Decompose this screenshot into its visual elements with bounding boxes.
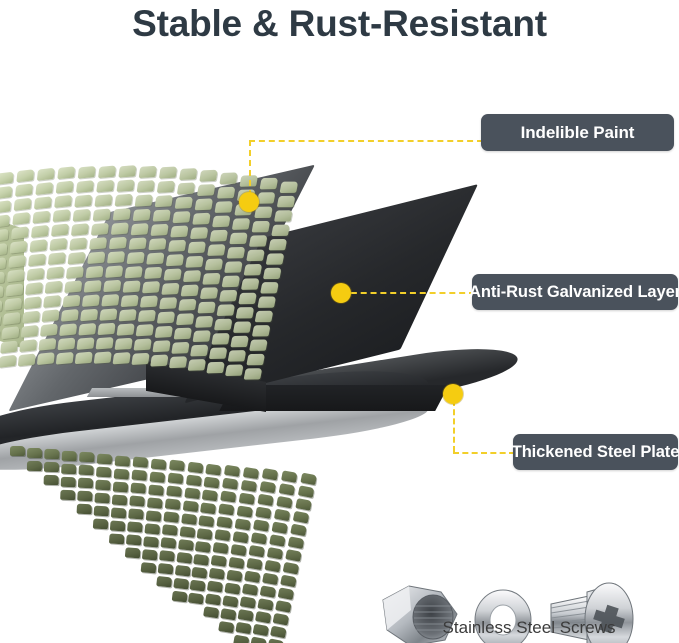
turf-tuft-underside <box>280 574 297 587</box>
turf-tuft-underside <box>44 449 59 459</box>
turf-tuft <box>137 180 155 192</box>
turf-tuft-underside <box>96 467 112 478</box>
turf-tuft-underside <box>285 549 302 562</box>
turf-tuft <box>32 210 50 223</box>
turf-tuft-underside <box>188 462 204 474</box>
turf-tuft <box>153 209 171 221</box>
turf-tuft-underside <box>237 505 253 517</box>
turf-tuft-underside <box>111 507 127 518</box>
turf-tuft-underside <box>132 470 148 481</box>
turf-tuft <box>227 247 246 259</box>
turf-tuft <box>101 294 119 307</box>
turf-tuft <box>224 261 243 273</box>
turf-tuft-underside <box>262 468 278 480</box>
turf-tuft-underside <box>190 579 206 591</box>
turf-tuft <box>159 297 177 309</box>
turf-tuft-underside <box>61 464 76 475</box>
turf-tuft-underside <box>241 480 257 492</box>
turf-tuft-underside <box>175 565 191 577</box>
turf-tuft <box>115 337 133 349</box>
turf-tuft-underside <box>203 606 219 618</box>
turf-tuft <box>10 241 28 254</box>
callout-dot-indelible-paint <box>239 192 259 212</box>
leader-line-galvanized-layer <box>341 292 475 294</box>
turf-tuft <box>12 212 30 225</box>
turf-tuft-underside <box>60 490 75 501</box>
turf-tuft <box>35 182 53 195</box>
turf-tuft-column-underside <box>10 446 25 459</box>
turf-tuft <box>8 255 26 268</box>
turf-tuft <box>211 333 230 345</box>
turf-tuft-underside <box>253 520 269 532</box>
turf-tuft <box>174 328 193 340</box>
turf-tuft-underside <box>109 533 125 544</box>
turf-tuft <box>280 182 299 193</box>
turf-tuft <box>0 186 12 199</box>
turf-tuft-column-underside <box>44 449 60 488</box>
turf-tuft-underside <box>162 525 178 537</box>
turf-tuft-underside <box>224 582 240 594</box>
turf-tuft <box>257 192 276 204</box>
turf-tuft-underside <box>283 561 300 574</box>
turf-tuft-underside <box>243 467 259 479</box>
turf-tuft-underside <box>298 485 315 498</box>
turf-tuft-underside <box>262 573 279 586</box>
turf-tuft-underside <box>165 499 181 511</box>
turf-tuft <box>57 337 75 350</box>
turf-tuft <box>31 225 49 238</box>
turf-tuft <box>125 266 143 278</box>
turf-tuft <box>185 256 204 268</box>
turf-tuft <box>42 309 60 322</box>
turf-tuft <box>18 353 36 366</box>
turf-tuft <box>107 251 125 264</box>
turf-tuft-underside <box>77 504 92 515</box>
turf-tuft <box>140 295 158 307</box>
turf-tuft-underside <box>288 536 305 549</box>
turf-tuft <box>19 339 37 352</box>
turf-tuft-underside <box>300 472 317 485</box>
turf-tuft-underside <box>249 545 265 557</box>
turf-tuft <box>176 313 195 325</box>
turf-tuft <box>82 294 100 307</box>
turf-tuft <box>21 325 39 338</box>
turf-tuft <box>0 172 14 185</box>
turf-tuft-underside <box>293 510 310 523</box>
turf-tuft <box>40 323 58 336</box>
turf-tuft-underside <box>191 566 207 578</box>
turf-tuft <box>164 268 182 280</box>
turf-tuft <box>111 222 129 235</box>
turf-tuft <box>56 351 74 364</box>
callout-label-steel-plate[interactable]: Thickened Steel Plate <box>513 434 678 470</box>
turf-tuft-underside <box>267 547 284 560</box>
leader-line-indelible-paint-horizontal <box>249 140 483 142</box>
callout-label-indelible-paint[interactable]: Indelible Paint <box>481 114 674 151</box>
turf-tuft-underside <box>142 549 158 560</box>
turf-tuft <box>190 227 209 239</box>
turf-tuft <box>0 286 4 299</box>
turf-tuft-underside <box>222 478 238 490</box>
turf-tuft <box>254 207 273 219</box>
turf-tuft-underside <box>178 539 194 551</box>
turf-tuft <box>222 275 241 287</box>
turf-tuft-underside <box>77 491 92 502</box>
turf-tuft-underside <box>264 560 281 573</box>
turf-tuft-underside <box>93 518 109 529</box>
turf-tuft-underside <box>231 544 247 556</box>
turf-tuft-underside <box>143 536 159 547</box>
turf-tuft <box>197 301 216 313</box>
turf-tuft-underside <box>238 609 254 621</box>
turf-tuft <box>46 266 64 279</box>
turf-tuft <box>161 283 179 295</box>
turf-tuft-underside <box>272 521 289 534</box>
turf-tuft <box>78 165 96 178</box>
turf-tuft-column-underside <box>60 451 77 504</box>
turf-tuft <box>212 215 231 227</box>
callout-dot-galvanized-layer <box>331 283 351 303</box>
turf-tuft-underside <box>274 509 291 522</box>
turf-tuft <box>171 342 190 354</box>
turf-tuft <box>195 316 214 328</box>
turf-tuft-underside <box>78 478 93 489</box>
turf-tuft <box>0 243 7 256</box>
turf-tuft-underside <box>169 460 185 472</box>
turf-tuft <box>233 322 252 334</box>
turf-tuft-underside <box>144 523 160 534</box>
turf-tuft-column-underside <box>27 448 42 474</box>
turf-tuft <box>202 272 221 284</box>
turf-tuft-underside <box>218 504 234 516</box>
turf-tuft <box>119 309 137 321</box>
turf-tuft <box>170 225 188 237</box>
turf-tuft <box>56 181 74 194</box>
turf-tuft-underside <box>163 512 179 524</box>
turf-tuft-underside <box>205 594 221 606</box>
turf-tuft-underside <box>149 471 165 482</box>
turf-tuft-underside <box>253 624 270 637</box>
turf-tuft <box>238 293 257 305</box>
turf-tuft <box>133 338 151 350</box>
turf-tuft-underside <box>205 463 221 475</box>
leader-line-indelible-paint-vertical <box>249 140 251 196</box>
turf-tuft <box>0 229 9 242</box>
turf-tuft <box>146 252 164 264</box>
turf-tuft-underside <box>290 523 307 536</box>
turf-tuft <box>43 295 61 308</box>
turf-tuft <box>7 269 25 282</box>
turf-tuft-underside <box>173 578 189 590</box>
turf-tuft <box>199 170 218 182</box>
turf-tuft <box>229 232 248 244</box>
turf-tuft-underside <box>148 484 164 495</box>
turf-tuft-underside <box>128 509 144 520</box>
turf-tuft <box>1 326 19 339</box>
turf-tuft <box>78 322 96 335</box>
turf-tuft <box>105 265 123 278</box>
turf-tuft <box>86 265 104 278</box>
turf-tuft <box>75 351 93 364</box>
turf-tuft-underside <box>209 568 225 580</box>
turf-tuft-underside <box>79 452 94 463</box>
turf-tuft <box>109 237 127 250</box>
turf-tuft-underside <box>278 587 295 600</box>
turf-tuft <box>53 209 71 222</box>
turf-tuft <box>210 229 229 241</box>
turf-tuft <box>84 279 102 292</box>
turf-tuft <box>172 211 190 223</box>
turf-tuft-underside <box>186 475 202 487</box>
turf-tuft-underside <box>233 531 249 543</box>
turf-tuft-underside <box>244 571 260 583</box>
turf-tuft <box>236 307 255 319</box>
turf-tuft-underside <box>95 480 111 491</box>
turf-tuft <box>45 281 63 294</box>
turf-tuft <box>244 264 263 276</box>
turf-tuft <box>139 165 157 177</box>
turf-tuft <box>135 194 153 206</box>
turf-tuft <box>190 344 209 356</box>
turf-tuft <box>219 290 238 302</box>
turf-tuft <box>113 208 131 221</box>
turf-tuft-column-underside <box>76 452 94 518</box>
turf-tuft <box>121 294 139 306</box>
turf-tuft <box>127 251 145 263</box>
turf-tuft <box>38 338 56 351</box>
hardware-caption: Stainless Steel Screws <box>379 618 679 638</box>
turf-tuft-underside <box>10 446 25 456</box>
turf-tuft <box>214 318 233 330</box>
turf-tuft <box>0 271 5 284</box>
turf-tuft <box>14 198 32 211</box>
turf-tuft <box>159 166 177 178</box>
turf-tuft <box>34 196 52 209</box>
turf-tuft <box>232 218 251 230</box>
turf-tuft <box>89 237 107 250</box>
turf-tuft-underside <box>159 550 175 562</box>
turf-tuft <box>0 300 2 313</box>
turf-tuft <box>48 252 66 265</box>
turf-tuft <box>116 179 134 192</box>
turf-tuft-column-underside <box>93 454 113 533</box>
turf-tuft <box>138 310 156 322</box>
turf-tuft-underside <box>276 496 293 509</box>
turf-tuft-underside <box>250 636 267 643</box>
turf-tuft-underside <box>222 595 238 607</box>
turf-tuft <box>0 341 18 354</box>
turf-tuft <box>142 281 160 293</box>
turf-tuft <box>246 354 265 365</box>
turf-tuft <box>277 196 296 207</box>
turf-tuft <box>188 241 207 253</box>
turf-tuft <box>241 278 260 290</box>
turf-tuft <box>205 258 224 270</box>
turf-tuft <box>175 197 193 209</box>
turf-tuft <box>96 337 114 350</box>
turf-tuft <box>244 368 263 379</box>
turf-tuft-underside <box>183 500 199 512</box>
turf-tuft-underside <box>158 563 174 575</box>
turf-tuft <box>91 222 109 235</box>
turf-tuft <box>271 225 290 236</box>
turf-tuft <box>157 311 175 323</box>
turf-tuft <box>131 223 149 235</box>
turf-tuft-grid-bottom <box>10 444 340 624</box>
turf-tuft-underside <box>269 534 286 547</box>
turf-tuft <box>225 365 244 377</box>
turf-tuft <box>230 336 249 348</box>
turf-tuft <box>97 323 115 336</box>
turf-tuft <box>179 168 197 180</box>
turf-tuft <box>136 324 154 336</box>
turf-tuft <box>25 282 43 295</box>
turf-tuft-underside <box>260 585 277 598</box>
turf-tuft-underside <box>220 608 236 620</box>
turf-tuft <box>193 330 212 342</box>
turf-tuft-underside <box>251 532 267 544</box>
turf-tuft <box>54 195 72 208</box>
turf-tuft <box>22 310 40 323</box>
turf-tuft <box>94 351 112 364</box>
turf-tuft-underside <box>44 475 59 485</box>
turf-tuft <box>168 240 186 252</box>
turf-tuft <box>0 257 6 270</box>
turf-tuft <box>115 194 133 207</box>
turf-tuft <box>133 208 151 220</box>
turf-tuft-underside <box>115 455 131 466</box>
turf-tuft <box>206 361 225 373</box>
turf-tuft-underside <box>112 494 128 505</box>
turf-tuft <box>207 244 226 256</box>
turf-tuft <box>157 181 175 193</box>
turf-tuft-underside <box>172 591 188 603</box>
turf-tuft-underside <box>161 537 177 549</box>
turf-tuft <box>49 238 67 251</box>
turf-tuft <box>228 350 247 362</box>
turf-tuft-underside <box>125 547 141 558</box>
turf-tuft-underside <box>235 518 251 530</box>
turf-tuft-underside <box>233 635 249 643</box>
turf-tuft-underside <box>257 598 274 611</box>
turf-tuft <box>183 270 202 282</box>
turf-tuft <box>51 223 69 236</box>
turf-tuft-grid-top <box>0 127 325 412</box>
turf-tuft <box>59 323 77 336</box>
turf-tuft <box>28 253 46 266</box>
turf-tuft-underside <box>27 461 42 471</box>
turf-tuft-underside <box>126 534 142 545</box>
turf-tuft-underside <box>180 526 196 538</box>
turf-tuft <box>103 280 121 293</box>
turf-tuft <box>64 280 82 293</box>
turf-tuft-underside <box>257 494 273 506</box>
turf-tuft <box>255 311 274 322</box>
turf-tuft-underside <box>141 562 157 573</box>
turf-tuft-underside <box>184 487 200 499</box>
turf-tuft <box>268 239 287 250</box>
turf-tuft <box>4 298 22 311</box>
turf-tuft-underside <box>224 465 240 477</box>
turf-tuft <box>76 180 94 193</box>
turf-tuft-underside <box>281 470 298 483</box>
turf-tuft <box>66 266 84 279</box>
turf-tuft <box>73 208 91 221</box>
turf-tuft <box>123 280 141 292</box>
turf-tuft-underside <box>279 483 296 496</box>
turf-tuft <box>96 179 114 192</box>
turf-tuft-underside <box>188 592 204 604</box>
turf-tuft-underside <box>110 520 126 531</box>
turf-tuft <box>129 237 147 249</box>
turf-tuft <box>252 325 271 336</box>
turf-tuft-underside <box>268 638 285 643</box>
turf-tuft-underside <box>168 473 184 485</box>
turf-tuft <box>0 214 10 227</box>
turf-tuft-underside <box>204 476 220 488</box>
turf-tuft-underside <box>166 486 182 498</box>
turf-tuft <box>94 194 112 207</box>
turf-tuft-underside <box>255 611 272 624</box>
turf-tuft <box>249 235 268 247</box>
turf-tuft <box>263 268 282 279</box>
turf-tuft <box>260 282 279 293</box>
turf-tuft-underside <box>260 481 276 493</box>
turf-tuft-underside <box>235 622 251 634</box>
turf-tuft <box>209 347 228 359</box>
turf-tuft <box>177 182 195 194</box>
callout-label-galvanized-layer[interactable]: Anti-Rust Galvanized Layer <box>472 274 678 310</box>
leader-line-steel-plate-vertical <box>453 400 455 452</box>
turf-tuft-underside <box>270 625 287 638</box>
product-infographic: Stable & Rust-Resistant <box>0 0 679 643</box>
turf-tuft-underside <box>44 462 59 472</box>
turf-tuft <box>148 238 166 250</box>
turf-tuft <box>214 201 233 213</box>
turf-tuft-underside <box>273 612 290 625</box>
turf-tuft-underside <box>94 493 110 504</box>
turf-tuft <box>150 224 168 236</box>
turf-tuft-underside <box>246 558 262 570</box>
turf-tuft <box>69 237 87 250</box>
turf-tuft <box>217 304 236 316</box>
turf-tuft <box>219 172 238 184</box>
turf-tuft-underside <box>195 541 211 553</box>
turf-tuft-underside <box>147 497 163 508</box>
turf-tuft-underside <box>113 481 129 492</box>
turf-tuft <box>113 352 131 364</box>
turf-tuft-underside <box>215 529 231 541</box>
turf-tuft <box>274 210 293 221</box>
turf-tuft <box>178 299 197 311</box>
turf-tuft-underside <box>198 515 214 527</box>
turf-tuft-underside <box>211 555 227 567</box>
turf-tuft-underside <box>239 492 255 504</box>
turf-tuft <box>217 186 236 198</box>
turf-tuft-underside <box>97 454 113 465</box>
turf-tuft <box>118 165 136 178</box>
turf-tuft-underside <box>240 597 256 609</box>
turf-tuft <box>71 223 89 236</box>
turf-tuft-underside <box>27 448 42 458</box>
turf-tuft-underside <box>295 498 312 511</box>
turf-tuft <box>37 168 55 181</box>
turf-tuft <box>197 184 216 196</box>
turf-tuft <box>98 165 116 178</box>
turf-tuft-underside <box>146 510 162 521</box>
turf-tuft-underside <box>275 600 292 613</box>
turf-tuft <box>188 359 207 371</box>
